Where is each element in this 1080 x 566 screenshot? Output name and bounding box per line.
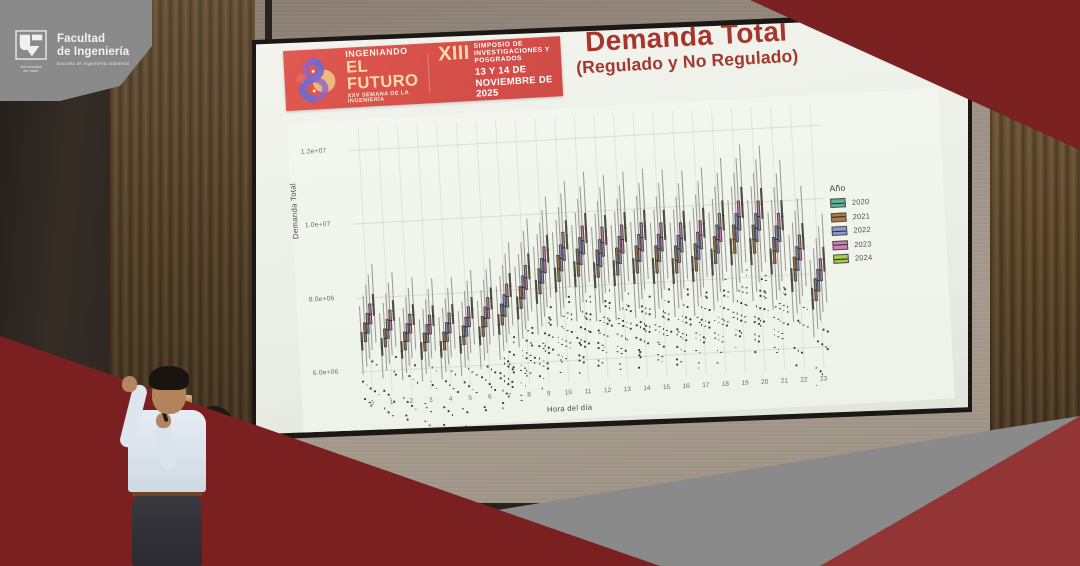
presenter-center-hair bbox=[149, 366, 189, 390]
outlier-point bbox=[625, 350, 627, 352]
x-tick-label: 18 bbox=[722, 380, 730, 388]
outlier-point bbox=[676, 346, 678, 348]
outlier-point bbox=[817, 340, 819, 342]
presenters-group bbox=[20, 326, 270, 566]
outlier-point bbox=[584, 341, 586, 343]
outlier-point bbox=[491, 369, 493, 371]
y-tick-label: 8.0e+06 bbox=[309, 295, 335, 304]
outlier-point bbox=[481, 376, 483, 378]
outlier-point bbox=[599, 320, 601, 322]
logo-caption-line1: Universidad bbox=[20, 65, 41, 69]
outlier-point bbox=[448, 410, 450, 412]
outlier-point bbox=[701, 319, 703, 321]
presenter-center-trousers bbox=[132, 492, 202, 566]
outlier-point bbox=[411, 405, 413, 407]
legend-swatch bbox=[830, 198, 846, 208]
outlier-point bbox=[663, 346, 665, 348]
outlier-point bbox=[758, 341, 760, 343]
wall-baseboard bbox=[255, 508, 995, 566]
outlier-point bbox=[571, 331, 573, 333]
outlier-point bbox=[392, 415, 394, 417]
outlier-point bbox=[763, 321, 765, 323]
x-tick-label: 0 bbox=[370, 400, 374, 407]
presentation-photo: INGENIANDO EL FUTURO XXV SEMANA DE LA IN… bbox=[0, 0, 1080, 566]
outlier-point bbox=[630, 323, 632, 325]
outlier-point bbox=[521, 400, 523, 402]
outlier-point bbox=[636, 324, 638, 326]
outlier-point bbox=[403, 397, 405, 399]
outlier-point bbox=[432, 384, 434, 386]
outlier-point bbox=[407, 419, 409, 421]
outlier-point bbox=[579, 372, 581, 374]
y-tick-label: 1.2e+07 bbox=[301, 148, 327, 157]
outlier-point bbox=[823, 329, 825, 331]
outlier-point bbox=[706, 297, 708, 299]
outlier-point bbox=[678, 331, 680, 333]
y-tick-label: 6.0e+06 bbox=[313, 368, 339, 377]
outlier-point bbox=[526, 352, 528, 354]
outlier-point bbox=[793, 347, 795, 349]
outlier-point bbox=[580, 326, 582, 328]
outlier-point bbox=[687, 306, 689, 308]
outlier-point bbox=[708, 321, 710, 323]
outlier-point bbox=[706, 292, 708, 294]
outlier-point bbox=[582, 311, 584, 313]
chart-legend: Año 20202021202220232024 bbox=[829, 177, 941, 268]
banner-el-futuro: EL FUTURO bbox=[346, 56, 419, 93]
outlier-point bbox=[509, 351, 511, 353]
outlier-point bbox=[531, 345, 533, 347]
projection-screen: INGENIANDO EL FUTURO XXV SEMANA DE LA IN… bbox=[252, 10, 972, 440]
outlier-point bbox=[567, 312, 569, 314]
outlier-point bbox=[638, 367, 640, 369]
banner-simposio-line2: INVESTIGACIONES Y POSGRADOS bbox=[474, 46, 553, 65]
outlier-point bbox=[550, 319, 552, 321]
x-tick-label: 10 bbox=[565, 389, 573, 397]
outlier-point bbox=[611, 325, 613, 327]
screen-surface: INGENIANDO EL FUTURO XXV SEMANA DE LA IN… bbox=[256, 14, 968, 436]
banner-date: 13 Y 14 DE NOVIEMBRE DE 2025 bbox=[475, 63, 555, 99]
outlier-point bbox=[512, 381, 514, 383]
outlier-point bbox=[444, 424, 446, 426]
outlier-point bbox=[760, 307, 762, 309]
outlier-point bbox=[821, 343, 823, 345]
outlier-point bbox=[374, 391, 376, 393]
outlier-point bbox=[504, 363, 506, 365]
outlier-point bbox=[827, 331, 829, 333]
outlier-point bbox=[740, 315, 742, 317]
outlier-point bbox=[579, 359, 581, 361]
outlier-point bbox=[502, 407, 504, 409]
outlier-point bbox=[384, 408, 386, 410]
outlier-point bbox=[425, 420, 427, 422]
outlier-point bbox=[414, 364, 416, 366]
wood-panel-right bbox=[990, 0, 1080, 566]
outlier-point bbox=[649, 308, 651, 310]
x-tick-label: 21 bbox=[781, 377, 789, 385]
outlier-point bbox=[586, 318, 588, 320]
outlier-point bbox=[586, 312, 588, 314]
outlier-point bbox=[622, 325, 624, 327]
legend-item-2024: 2024 bbox=[833, 249, 941, 264]
banner-identity: INGENIANDO EL FUTURO XXV SEMANA DE LA IN… bbox=[345, 46, 419, 105]
outlier-point bbox=[520, 394, 522, 396]
outlier-point bbox=[589, 314, 591, 316]
boxplot-chart: Demanda Total 6.0e+068.0e+061.0e+071.2e+… bbox=[287, 88, 955, 433]
outlier-point bbox=[495, 372, 497, 374]
outlier-point bbox=[668, 301, 670, 303]
univalle-logo-icon: Universidad del Valle bbox=[14, 30, 48, 70]
outlier-point bbox=[526, 375, 528, 377]
outlier-point bbox=[508, 383, 510, 385]
outlier-point bbox=[430, 411, 432, 413]
outlier-point bbox=[547, 368, 549, 370]
y-tick-label: 1.0e+07 bbox=[305, 221, 331, 230]
x-tick-label: 1 bbox=[390, 399, 394, 406]
x-tick-label: 20 bbox=[761, 378, 769, 386]
outlier-point bbox=[541, 388, 543, 390]
outlier-point bbox=[502, 390, 504, 392]
outlier-point bbox=[462, 408, 464, 410]
x-tick-label: 4 bbox=[449, 395, 453, 402]
legend-label: 2021 bbox=[852, 211, 870, 221]
x-tick-label: 9 bbox=[547, 390, 551, 397]
x-tick-label: 22 bbox=[800, 376, 808, 384]
faculty-line1: Facultad bbox=[57, 33, 129, 46]
outlier-point bbox=[395, 356, 397, 358]
outlier-point bbox=[816, 367, 818, 369]
outlier-point bbox=[783, 322, 785, 324]
outlier-point bbox=[622, 320, 624, 322]
outlier-point bbox=[408, 375, 410, 377]
outlier-point bbox=[690, 324, 692, 326]
outlier-point bbox=[464, 381, 466, 383]
plot-region bbox=[347, 103, 833, 393]
outlier-point bbox=[534, 357, 536, 359]
outlier-point bbox=[452, 414, 454, 416]
outlier-point bbox=[568, 296, 570, 298]
outlier-point bbox=[500, 372, 502, 374]
outlier-point bbox=[608, 290, 610, 292]
outlier-point bbox=[760, 325, 762, 327]
outlier-point bbox=[589, 301, 591, 303]
outlier-point bbox=[457, 391, 459, 393]
outlier-point bbox=[641, 311, 643, 313]
banner-simposio: XIII SIMPOSIO DE INVESTIGACIONES Y POSGR… bbox=[438, 38, 555, 100]
outlier-point bbox=[701, 306, 703, 308]
banner-semana: XXV SEMANA DE LA INGENIERÍA bbox=[347, 90, 419, 105]
outlier-point bbox=[370, 388, 372, 390]
outlier-point bbox=[417, 382, 419, 384]
outlier-point bbox=[640, 351, 642, 353]
outlier-point bbox=[468, 385, 470, 387]
outlier-point bbox=[670, 331, 672, 333]
outlier-point bbox=[760, 295, 762, 297]
outlier-point bbox=[388, 394, 390, 396]
outlier-point bbox=[803, 324, 805, 326]
x-tick-label: 13 bbox=[624, 386, 632, 394]
x-tick-label: 2 bbox=[409, 398, 413, 405]
faculty-brand-badge: Universidad del Valle Facultad de Ingeni… bbox=[0, 0, 150, 100]
outlier-point bbox=[640, 339, 642, 341]
outlier-point bbox=[758, 335, 760, 337]
x-tick-label: 16 bbox=[682, 383, 690, 391]
univalle-logo-caption: Universidad del Valle bbox=[14, 65, 48, 74]
legend-label: 2022 bbox=[853, 225, 871, 235]
x-tick-label: 11 bbox=[584, 388, 591, 396]
presenter-center-fist bbox=[122, 376, 137, 392]
presenter-center bbox=[116, 351, 226, 566]
outlier-point bbox=[754, 351, 756, 353]
outlier-point bbox=[483, 406, 485, 408]
x-axis-title: Hora del día bbox=[547, 402, 593, 414]
outlier-point bbox=[609, 320, 611, 322]
outlier-point bbox=[576, 337, 578, 339]
event-banner: INGENIANDO EL FUTURO XXV SEMANA DE LA IN… bbox=[283, 36, 563, 111]
x-tick-label: 15 bbox=[663, 384, 671, 392]
x-tick-label: 12 bbox=[604, 387, 612, 395]
outlier-point bbox=[584, 346, 586, 348]
outlier-point bbox=[641, 306, 643, 308]
outlier-point bbox=[787, 323, 789, 325]
outlier-point bbox=[589, 331, 591, 333]
outlier-point bbox=[550, 324, 552, 326]
outlier-point bbox=[579, 354, 581, 356]
outlier-point bbox=[649, 314, 651, 316]
outlier-point bbox=[784, 293, 786, 295]
x-tick-label: 5 bbox=[468, 394, 472, 401]
outlier-point bbox=[544, 350, 546, 352]
outlier-point bbox=[429, 424, 431, 426]
legend-item-2020: 2020 bbox=[830, 193, 938, 208]
outlier-point bbox=[627, 305, 629, 307]
legend-title: Año bbox=[829, 177, 937, 193]
outlier-point bbox=[602, 362, 604, 364]
baseboard-trim bbox=[255, 503, 995, 510]
y-axis-title: Demanda Total bbox=[286, 146, 300, 240]
outlier-point bbox=[687, 294, 689, 296]
outlier-point bbox=[364, 398, 366, 400]
outlier-point bbox=[605, 300, 607, 302]
outlier-point bbox=[445, 381, 447, 383]
faculty-line3: Escuela de Ingeniería Industrial bbox=[57, 61, 129, 66]
outlier-point bbox=[598, 347, 600, 349]
outlier-point bbox=[362, 381, 364, 383]
outlier-point bbox=[371, 361, 373, 363]
presenter-left-torso bbox=[32, 438, 98, 566]
outlier-point bbox=[531, 327, 533, 329]
outlier-point bbox=[668, 288, 670, 290]
outlier-point bbox=[548, 352, 550, 354]
legend-swatch bbox=[831, 226, 847, 236]
outlier-point bbox=[816, 385, 818, 387]
outlier-point bbox=[548, 335, 550, 337]
outlier-point bbox=[645, 325, 647, 327]
legend-swatch bbox=[831, 212, 847, 222]
outlier-point bbox=[636, 337, 638, 339]
outlier-point bbox=[723, 295, 725, 297]
outlier-point bbox=[500, 377, 502, 379]
outlier-point bbox=[801, 352, 803, 354]
x-tick-label: 8 bbox=[527, 391, 531, 398]
outlier-point bbox=[799, 322, 801, 324]
outlier-point bbox=[466, 411, 468, 413]
outlier-point bbox=[649, 296, 651, 298]
outlier-point bbox=[640, 356, 642, 358]
outlier-point bbox=[512, 386, 514, 388]
outlier-point bbox=[763, 308, 765, 310]
legend-label: 2023 bbox=[854, 238, 872, 248]
outlier-point bbox=[784, 288, 786, 290]
outlier-point bbox=[472, 389, 474, 391]
outlier-point bbox=[513, 354, 515, 356]
ingeniando-logo-icon bbox=[292, 53, 342, 105]
outlier-point bbox=[388, 411, 390, 413]
outlier-point bbox=[495, 389, 497, 391]
outlier-point bbox=[608, 302, 610, 304]
outlier-point bbox=[568, 301, 570, 303]
outlier-point bbox=[605, 306, 607, 308]
outlier-point bbox=[738, 290, 740, 292]
outlier-point bbox=[630, 310, 632, 312]
x-tick-label: 6 bbox=[488, 393, 492, 400]
outlier-point bbox=[544, 333, 546, 335]
outlier-point bbox=[668, 318, 670, 320]
outlier-point bbox=[630, 328, 632, 330]
outlier-point bbox=[491, 386, 493, 388]
outlier-point bbox=[680, 361, 682, 363]
outlier-point bbox=[384, 390, 386, 392]
banner-roman-numeral: XIII bbox=[438, 43, 471, 64]
x-tick-label: 19 bbox=[741, 379, 749, 387]
slide-content: INGENIANDO EL FUTURO XXV SEMANA DE LA IN… bbox=[256, 14, 968, 436]
outlier-point bbox=[827, 349, 829, 351]
outlier-point bbox=[424, 403, 426, 405]
x-tick-label: 7 bbox=[507, 392, 511, 399]
outlier-point bbox=[487, 365, 489, 367]
outlier-point bbox=[485, 410, 487, 412]
outlier-point bbox=[539, 376, 541, 378]
outlier-point bbox=[378, 394, 380, 396]
outlier-point bbox=[783, 304, 785, 306]
legend-label: 2024 bbox=[855, 252, 873, 262]
presenter-left bbox=[28, 376, 102, 566]
outlier-point bbox=[820, 370, 822, 372]
x-tick-label: 17 bbox=[702, 382, 710, 390]
outlier-point bbox=[502, 402, 504, 404]
outlier-point bbox=[524, 385, 526, 387]
outlier-point bbox=[567, 330, 569, 332]
outlier-point bbox=[571, 319, 573, 321]
faculty-brand-text: Facultad de Ingeniería Escuela de Ingeni… bbox=[57, 33, 129, 66]
outlier-point bbox=[407, 401, 409, 403]
outlier-point bbox=[513, 371, 515, 373]
outlier-point bbox=[686, 322, 688, 324]
outlier-point bbox=[676, 364, 678, 366]
outlier-point bbox=[803, 306, 805, 308]
outlier-point bbox=[453, 388, 455, 390]
banner-divider bbox=[427, 54, 430, 93]
outlier-point bbox=[708, 309, 710, 311]
outlier-point bbox=[531, 332, 533, 334]
outlier-point bbox=[588, 342, 590, 344]
outlier-point bbox=[395, 374, 397, 376]
outlier-point bbox=[557, 354, 559, 356]
logo-caption-line2: del Valle bbox=[23, 69, 38, 73]
legend-item-2022: 2022 bbox=[831, 221, 939, 236]
x-tick-label: 23 bbox=[820, 375, 828, 383]
faculty-line2: de Ingeniería bbox=[57, 46, 129, 59]
outlier-point bbox=[741, 320, 743, 322]
outlier-point bbox=[689, 318, 691, 320]
outlier-point bbox=[526, 358, 528, 360]
outlier-point bbox=[393, 401, 395, 403]
outlier-point bbox=[426, 407, 428, 409]
legend-label: 2020 bbox=[852, 197, 870, 207]
x-tick-label: 3 bbox=[429, 396, 433, 403]
legend-swatch bbox=[833, 254, 849, 264]
outlier-point bbox=[443, 407, 445, 409]
outlier-point bbox=[552, 349, 554, 351]
outlier-point bbox=[513, 366, 515, 368]
outlier-point bbox=[513, 336, 515, 338]
outlier-point bbox=[584, 328, 586, 330]
x-tick-label: 14 bbox=[643, 385, 651, 393]
outlier-point bbox=[476, 392, 478, 394]
outlier-point bbox=[723, 290, 725, 292]
legend-item-2023: 2023 bbox=[832, 235, 940, 250]
outlier-point bbox=[663, 333, 665, 335]
outlier-point bbox=[645, 312, 647, 314]
outlier-point bbox=[787, 311, 789, 313]
legend-swatch bbox=[832, 240, 848, 250]
outlier-point bbox=[550, 306, 552, 308]
outlier-point bbox=[708, 327, 710, 329]
outlier-point bbox=[415, 408, 417, 410]
outlier-point bbox=[687, 288, 689, 290]
presenter-left-hair bbox=[48, 406, 82, 426]
legend-item-2021: 2021 bbox=[831, 207, 939, 222]
outlier-point bbox=[761, 278, 763, 280]
outlier-point bbox=[580, 344, 582, 346]
outlier-point bbox=[405, 415, 407, 417]
